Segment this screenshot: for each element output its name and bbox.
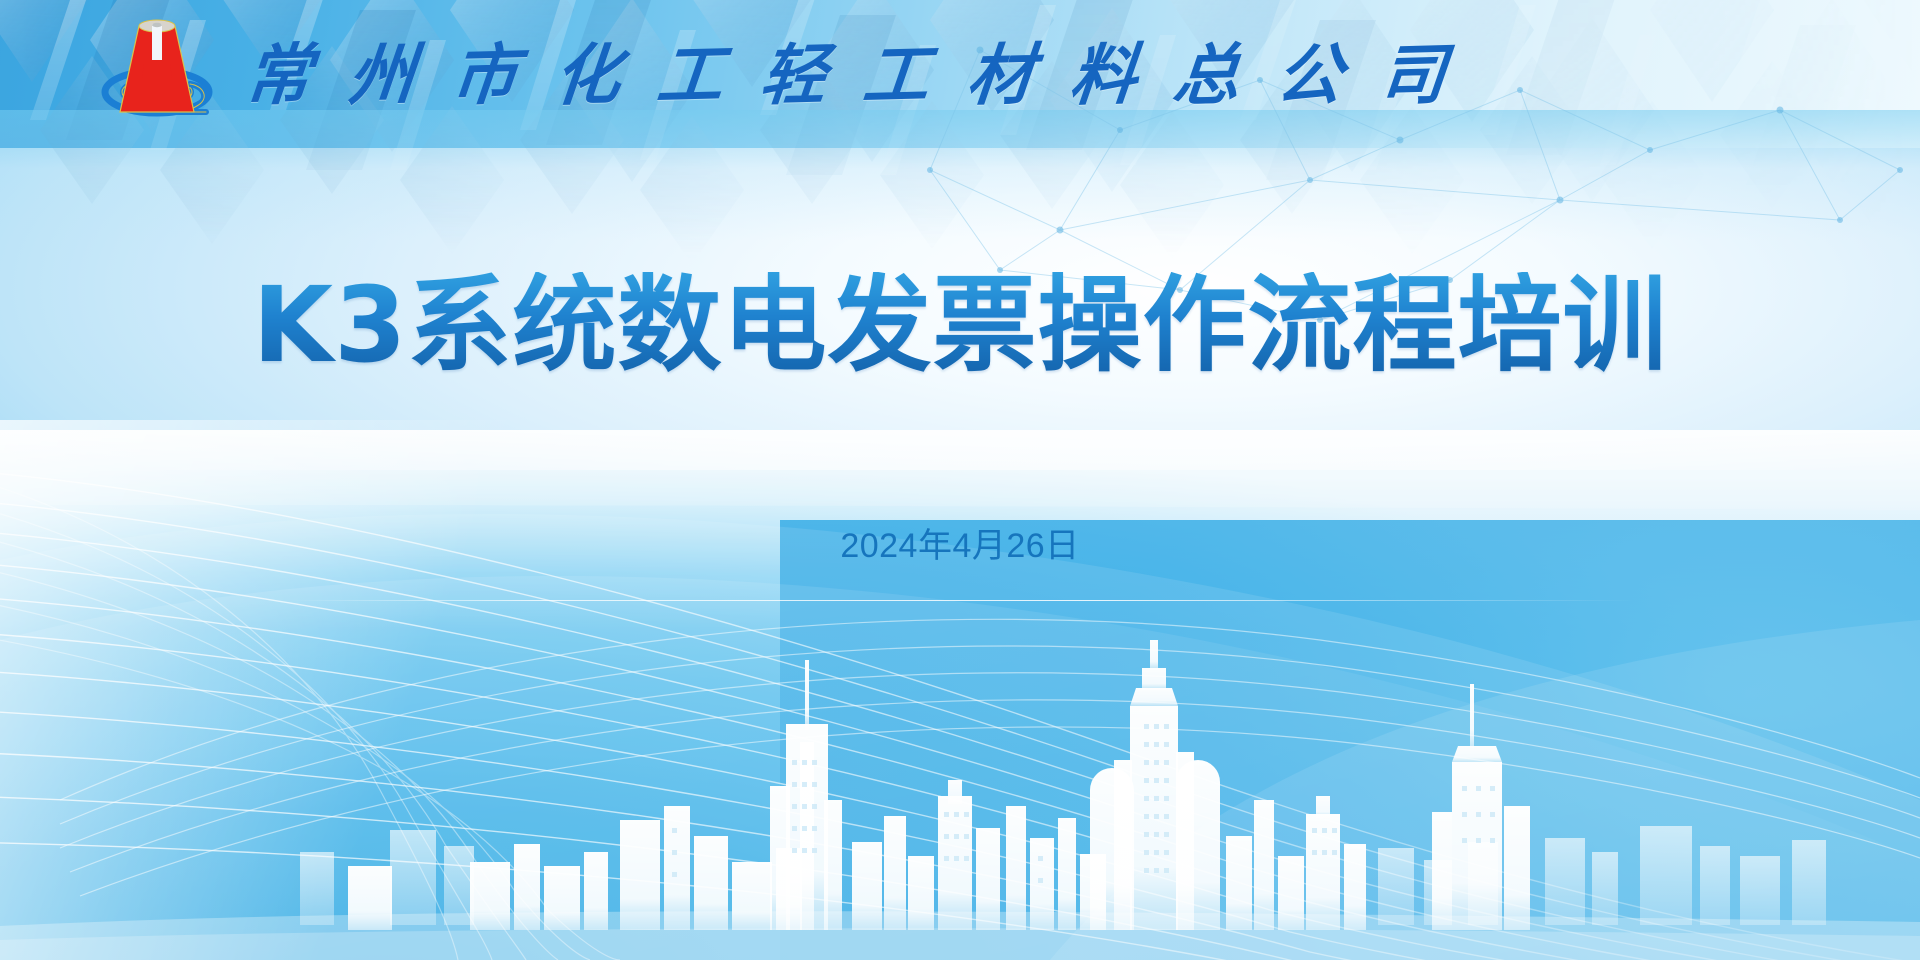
company-name-char: 料	[1066, 21, 1141, 119]
company-name-char: 常	[241, 21, 316, 119]
company-name-char: 工	[860, 21, 935, 119]
company-h-cone-logo	[98, 16, 216, 124]
company-name-char: 州	[344, 21, 419, 119]
company-name-char: 轻	[757, 21, 832, 119]
company-name-char: 化	[551, 21, 626, 119]
company-name-char: 司	[1375, 21, 1450, 119]
divider	[290, 600, 1635, 601]
background-left-vignette	[0, 420, 520, 960]
company-name-char: 公	[1272, 21, 1347, 119]
company-name-char: 总	[1169, 21, 1244, 119]
banner-canvas: 常 州 市 化 工 轻 工 材 料 总 公 司 K3系统数电发票操作流程培训 K…	[0, 0, 1920, 960]
company-name: 常 州 市 化 工 轻 工 材 料 总 公 司	[246, 24, 1446, 116]
company-name-char: 材	[963, 21, 1038, 119]
page-title: K3系统数电发票操作流程培训	[0, 272, 1920, 378]
logo-cone-h-icon	[120, 20, 194, 112]
company-name-char: 市	[447, 21, 522, 119]
company-name-char: 工	[654, 21, 729, 119]
event-date: 2024年4月26日	[0, 518, 1920, 567]
